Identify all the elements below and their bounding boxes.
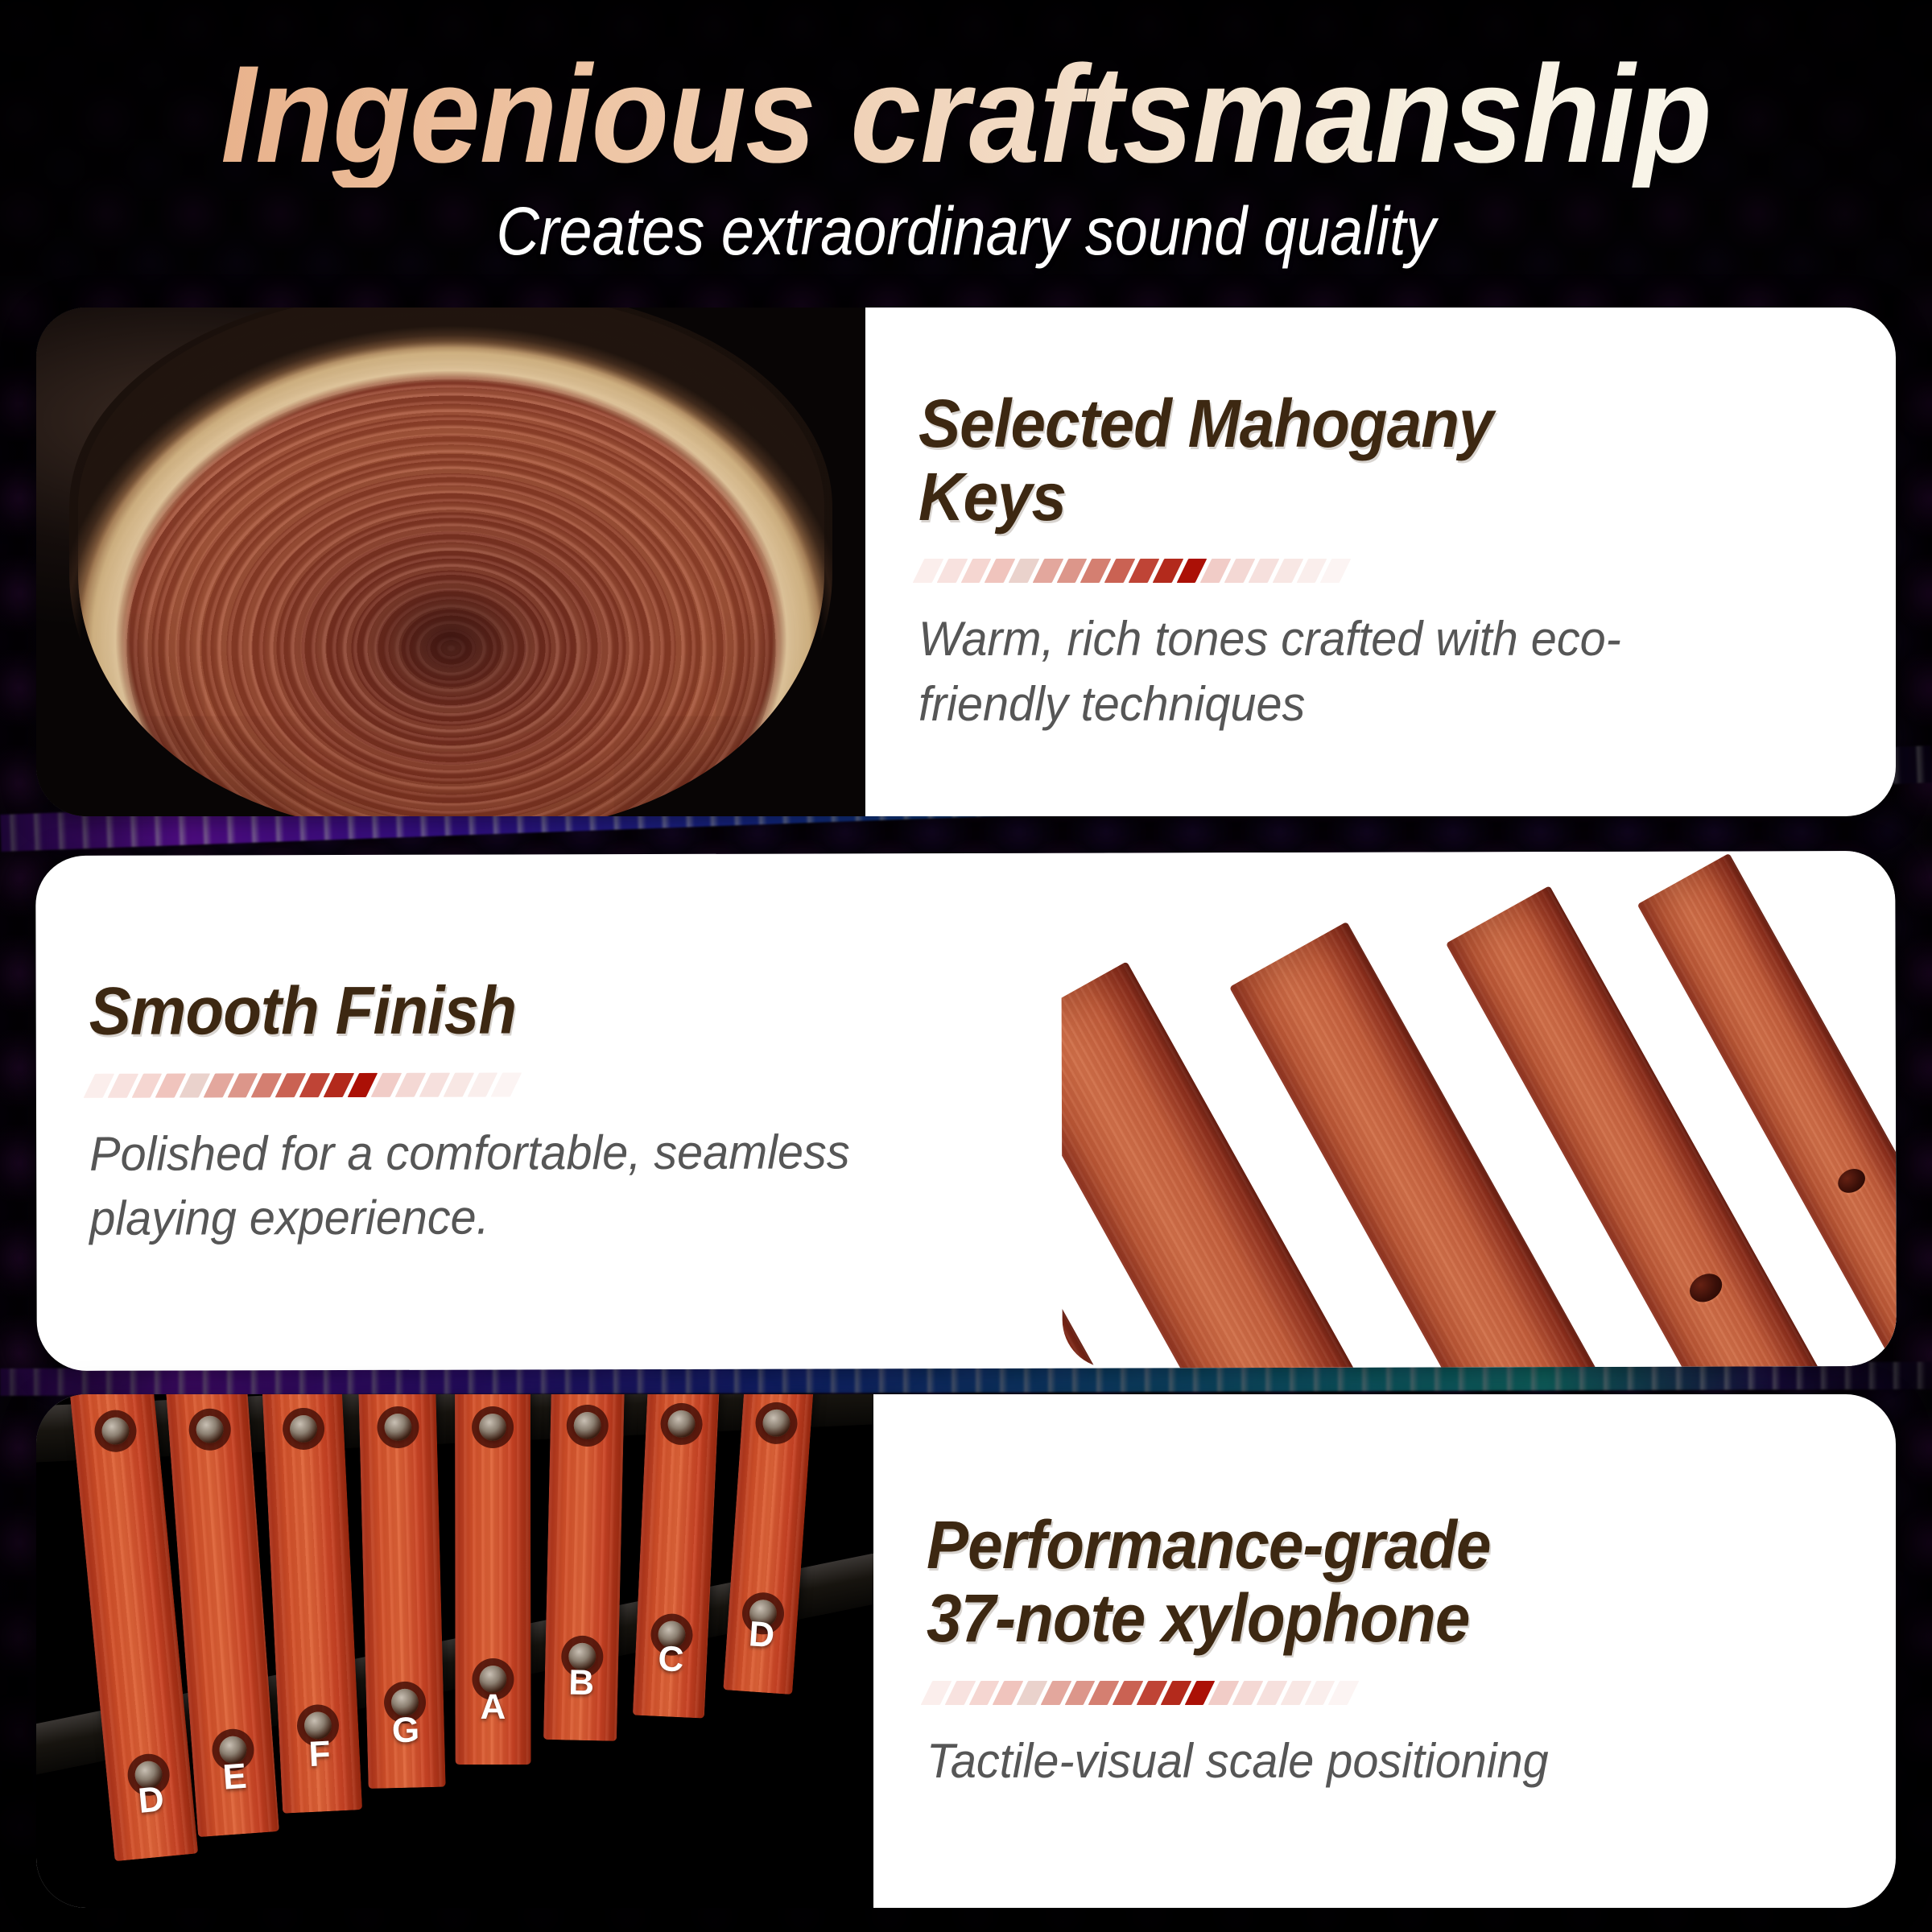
mahogany-log-cross-section-image bbox=[36, 308, 865, 816]
xylophone-keys-closeup-image: CDEFG bbox=[1061, 851, 1897, 1368]
bar-mounting-screw-1 bbox=[479, 1413, 506, 1440]
feature-card-selected-mahogany-keys: Selected Mahogany Keys Warm, rich tones … bbox=[36, 308, 1896, 816]
page-header: Ingenious craftsmanship Creates extraord… bbox=[0, 0, 1932, 306]
keys-closeup-scene: CDEFG bbox=[1061, 851, 1897, 1368]
bar-note-label-C: C bbox=[657, 1638, 684, 1679]
xylophone-bar-D-8: D bbox=[723, 1394, 814, 1695]
xylophone-bar-F-3: F bbox=[262, 1394, 362, 1814]
feature-card-smooth-finish: CDEFG Smooth Finish Polished for a comfo… bbox=[35, 851, 1897, 1371]
card-3-divider bbox=[921, 1681, 1360, 1705]
log-bark-edge bbox=[69, 308, 832, 816]
bar-note-label-D: D bbox=[748, 1614, 776, 1656]
page-title: Ingenious craftsmanship bbox=[77, 42, 1855, 188]
log-heartwood-center bbox=[368, 572, 534, 704]
bar-note-label-D: D bbox=[136, 1779, 165, 1822]
card-3-body: Performance-grade 37-note xylophone Tact… bbox=[873, 1394, 1896, 1908]
card-1-heading: Selected Mahogany Keys bbox=[919, 387, 1778, 533]
card-1-body: Selected Mahogany Keys Warm, rich tones … bbox=[865, 308, 1896, 816]
bar-note-label-G: G bbox=[391, 1711, 419, 1752]
xylophone-bar-A-5: A bbox=[455, 1394, 530, 1765]
page-subtitle: Creates extraordinary sound quality bbox=[116, 192, 1816, 270]
feature-card-performance-grade-xylophone: DEFGABCD Performance-grade 37-note xylop… bbox=[36, 1394, 1896, 1908]
bar-note-label-F: F bbox=[308, 1734, 332, 1775]
bar-note-label-E: E bbox=[221, 1757, 248, 1798]
card-2-description: Polished for a comfortable, seamless pla… bbox=[89, 1120, 878, 1251]
xylophone-bar-C-7: C bbox=[633, 1394, 720, 1718]
card-3-description: Tactile-visual scale positioning bbox=[927, 1729, 1761, 1794]
card-2-divider bbox=[84, 1072, 522, 1097]
xylophone-full-bar-array-image: DEFGABCD bbox=[36, 1394, 873, 1908]
card-1-description: Warm, rich tones crafted with eco-friend… bbox=[919, 607, 1753, 737]
card-2-heading: Smooth Finish bbox=[89, 972, 944, 1047]
card-3-heading: Performance-grade 37-note xylophone bbox=[927, 1509, 1778, 1654]
xylophone-bar-B-6: B bbox=[543, 1394, 625, 1741]
bar-note-label-B: B bbox=[568, 1663, 595, 1704]
xylophone-bar-G-4: G bbox=[358, 1394, 446, 1789]
bar-array-scene: DEFGABCD bbox=[36, 1394, 873, 1908]
bar-mounting-screw-1 bbox=[573, 1411, 601, 1439]
bar-note-label-A: A bbox=[480, 1687, 506, 1728]
card-1-divider bbox=[913, 559, 1352, 583]
card-2-body: Smooth Finish Polished for a comfortable… bbox=[35, 853, 1063, 1371]
